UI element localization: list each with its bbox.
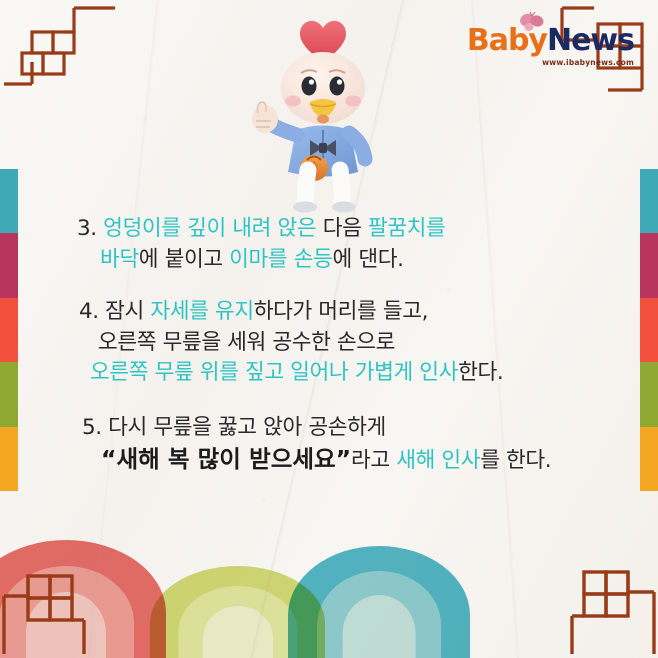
- babynews-logo: BabyNews www.ibabynews.com: [467, 26, 634, 67]
- lattice-ornament-top-left: [4, 6, 116, 114]
- highlighted-text: 새해 인사: [396, 448, 480, 473]
- highlighted-text: 엉덩이를 깊이 내려 앉은: [103, 216, 323, 241]
- rooster-mascot-illustration: [248, 18, 398, 214]
- calligraphy-greeting: “새해 복 많이 받으세요”: [101, 445, 351, 473]
- instruction-steps: 3. 엉덩이를 깊이 내려 앉은 다음 팔꿈치를바닥에 붙이고 이마를 손등에 …: [0, 214, 658, 494]
- body-text: 다음: [323, 216, 368, 241]
- highlighted-text: 바닥: [100, 247, 139, 272]
- body-text: 에 붙이고: [139, 247, 229, 272]
- highlighted-text: 이마를 손등: [229, 247, 332, 272]
- body-text: 한다.: [458, 360, 503, 385]
- step-number: 4.: [79, 299, 105, 324]
- step-5-line-1: 5. 다시 무릎을 꿇고 앉아 공손하게: [0, 413, 658, 444]
- body-text: 에 댄다.: [333, 247, 404, 272]
- logo-news-text: News: [547, 23, 634, 58]
- lattice-ornament-bottom-left: [2, 554, 106, 656]
- step-4: 4. 잠시 자세를 유지하다가 머리를 들고,오른쪽 무릎을 세워 공수한 손으…: [0, 297, 658, 389]
- step-4-line-2: 오른쪽 무릎을 세워 공수한 손으로: [0, 328, 658, 359]
- body-text: 를 한다.: [480, 448, 551, 473]
- body-text: 다시 무릎을 꿇고 앉아 공손하게: [108, 415, 386, 440]
- rooster-mascot: [248, 18, 398, 219]
- logo-url: www.ibabynews.com: [467, 59, 634, 67]
- body-text: 라고: [351, 448, 396, 473]
- infographic-card: BabyNews www.ibabynews.com: [0, 0, 658, 658]
- highlighted-text: 자세를 유지: [150, 299, 253, 324]
- step-3-line-2: 바닥에 붙이고 이마를 손등에 댄다.: [0, 245, 658, 276]
- body-text: 잠시: [105, 299, 150, 324]
- butterfly-icon: [519, 12, 545, 34]
- step-number: 3.: [77, 216, 103, 241]
- lattice-ornament-bottom-right: [550, 552, 656, 656]
- highlighted-text: 팔꿈치를: [368, 216, 446, 241]
- step-5-line-2: “새해 복 많이 받으세요”라고 새해 인사를 한다.: [0, 443, 658, 477]
- body-text: 오른쪽 무릎을 세워 공수한 손으로: [98, 330, 395, 355]
- step-number: 5.: [82, 415, 108, 440]
- step-4-line-1: 4. 잠시 자세를 유지하다가 머리를 들고,: [0, 297, 658, 328]
- step-4-line-3: 오른쪽 무릎 위를 짚고 일어나 가볍게 인사한다.: [0, 358, 658, 389]
- body-text: 하다가 머리를 들고,: [254, 299, 428, 324]
- step-3: 3. 엉덩이를 깊이 내려 앉은 다음 팔꿈치를바닥에 붙이고 이마를 손등에 …: [0, 214, 658, 275]
- step-3-line-1: 3. 엉덩이를 깊이 내려 앉은 다음 팔꿈치를: [0, 214, 658, 245]
- arch-teal: [288, 546, 470, 658]
- step-5: 5. 다시 무릎을 꿇고 앉아 공손하게“새해 복 많이 받으세요”라고 새해 …: [0, 413, 658, 477]
- logo-wordmark: BabyNews: [467, 26, 634, 56]
- highlighted-text: 오른쪽 무릎 위를 짚고 일어나 가볍게 인사: [90, 360, 458, 385]
